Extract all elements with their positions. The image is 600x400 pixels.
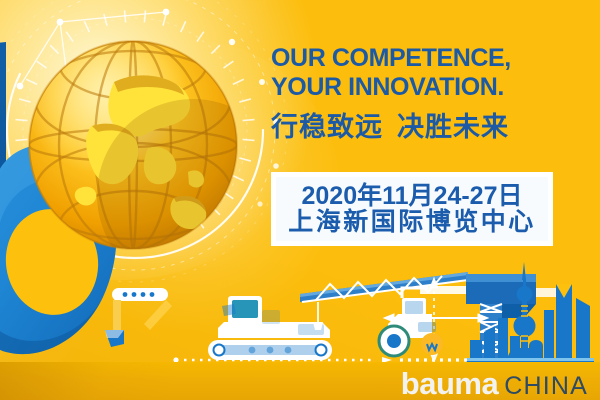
event-info-box: 2020年11月24-27日 上海新国际博览中心 <box>271 172 553 246</box>
bottom-bar: bauma CHINA <box>0 362 600 400</box>
headline-line2: YOUR INNOVATION. <box>271 73 571 102</box>
logo-region: CHINA <box>504 374 588 399</box>
headline-chinese: 行稳致远决胜未来 <box>271 111 571 143</box>
globe-graphic <box>18 30 248 260</box>
excavator-icon <box>208 296 332 360</box>
event-venue: 上海新国际博览中心 <box>288 209 536 236</box>
bauma-china-logo: bauma CHINA <box>401 368 588 399</box>
drill-rig-icon <box>105 288 172 347</box>
event-info-inner: 2020年11月24-27日 上海新国际博览中心 <box>276 177 548 241</box>
headline-line1: OUR COMPETENCE, <box>271 44 571 73</box>
headline-block: OUR COMPETENCE, YOUR INNOVATION. 行稳致远决胜未… <box>271 44 571 143</box>
bauma-china-banner: OUR COMPETENCE, YOUR INNOVATION. 行稳致远决胜未… <box>0 0 600 400</box>
event-date: 2020年11月24-27日 <box>302 183 523 210</box>
logo-brand: bauma <box>401 368 498 399</box>
machinery-illustrations <box>0 248 600 368</box>
headline-cn-b: 决胜未来 <box>397 112 509 142</box>
headline-cn-a: 行稳致远 <box>271 112 383 142</box>
